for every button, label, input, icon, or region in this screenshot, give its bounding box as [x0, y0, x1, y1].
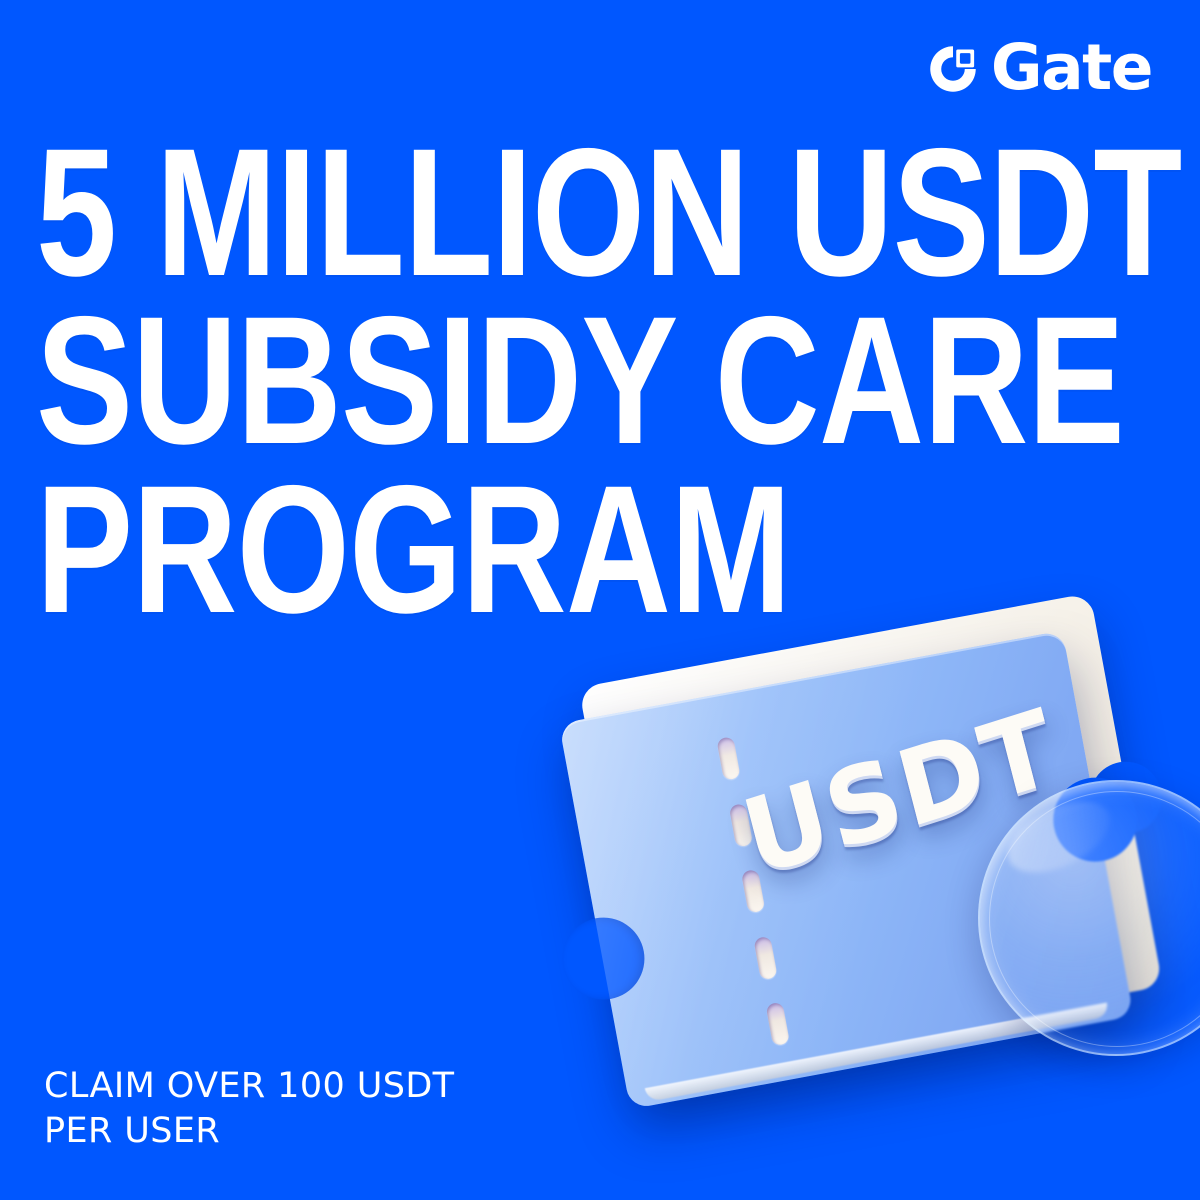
promo-banner: Gate 5 MILLION USDT SUBSIDY CARE PROGRAM — [0, 0, 1200, 1200]
promo-caption: CLAIM OVER 100 USDT PER USER — [44, 1064, 454, 1154]
perforation-slot — [753, 935, 777, 979]
caption-line-2: PER USER — [44, 1109, 454, 1154]
gate-circular-mark-icon — [927, 43, 979, 95]
headline-line-1: 5 MILLION USDT — [36, 128, 844, 296]
ticket-notch-left-icon — [556, 911, 652, 1007]
usdt-coupon-illustration: USDT — [560, 590, 1200, 1130]
page-title: 5 MILLION USDT SUBSIDY CARE PROGRAM — [36, 128, 1046, 633]
brand-wordmark: Gate — [991, 36, 1152, 99]
brand-logo[interactable]: Gate — [927, 38, 1152, 100]
perforation-slot — [766, 1002, 790, 1046]
headline-line-2: SUBSIDY CARE — [36, 296, 844, 464]
caption-line-1: CLAIM OVER 100 USDT — [44, 1064, 454, 1109]
perforation-slot — [716, 736, 740, 780]
